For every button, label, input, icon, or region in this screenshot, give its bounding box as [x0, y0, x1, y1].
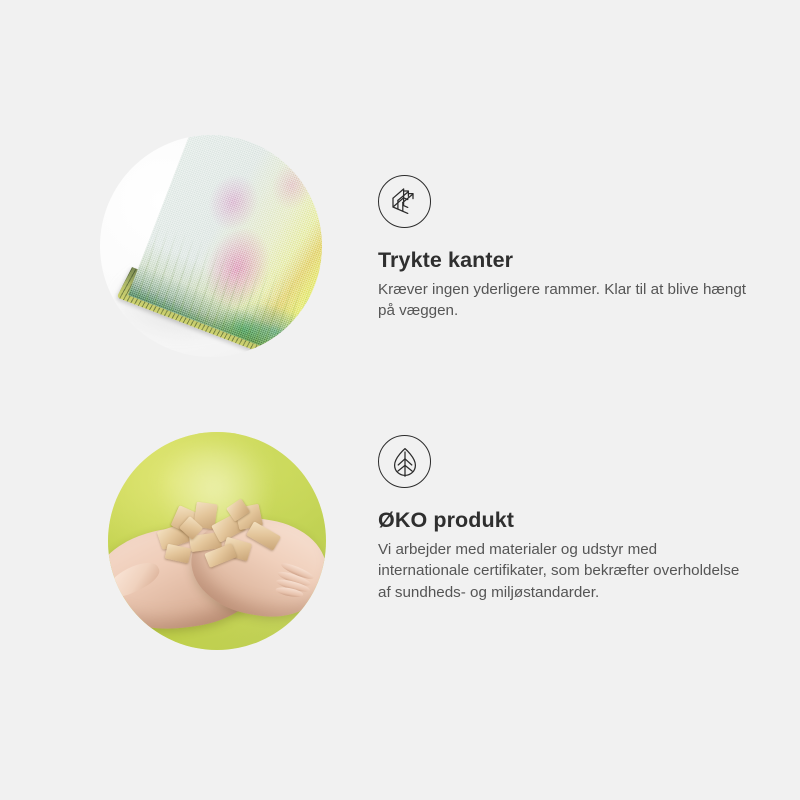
feature-description: Kræver ingen yderligere rammer. Klar til…	[378, 279, 750, 322]
feature-title: ØKO produkt	[378, 508, 768, 534]
canvas-photo-backdrop	[100, 135, 322, 357]
feature-title: Trykte kanter	[378, 248, 768, 274]
leaf-icon	[378, 435, 431, 488]
feature-block-printed-edges: Trykte kanter Kræver ingen yderligere ra…	[0, 95, 800, 425]
wood-chips-pile	[156, 502, 287, 576]
feature-text-eco-product: ØKO produkt Vi arbejder med materialer o…	[378, 435, 768, 604]
eco-photo-backdrop	[108, 432, 326, 650]
canvas-print-corner-photo	[100, 135, 322, 357]
product-features-panel: Trykte kanter Kræver ingen yderligere ra…	[0, 0, 800, 800]
feature-text-printed-edges: Trykte kanter Kræver ingen yderligere ra…	[378, 175, 768, 322]
feature-block-eco-product: ØKO produkt Vi arbejder med materialer o…	[0, 395, 800, 725]
feature-description: Vi arbejder med materialer og udstyr med…	[378, 539, 750, 604]
hands-holding-wood-chips-photo	[108, 432, 326, 650]
printed-edges-glyph	[388, 185, 422, 219]
printed-edges-icon	[378, 175, 431, 228]
leaf-glyph	[389, 446, 421, 478]
